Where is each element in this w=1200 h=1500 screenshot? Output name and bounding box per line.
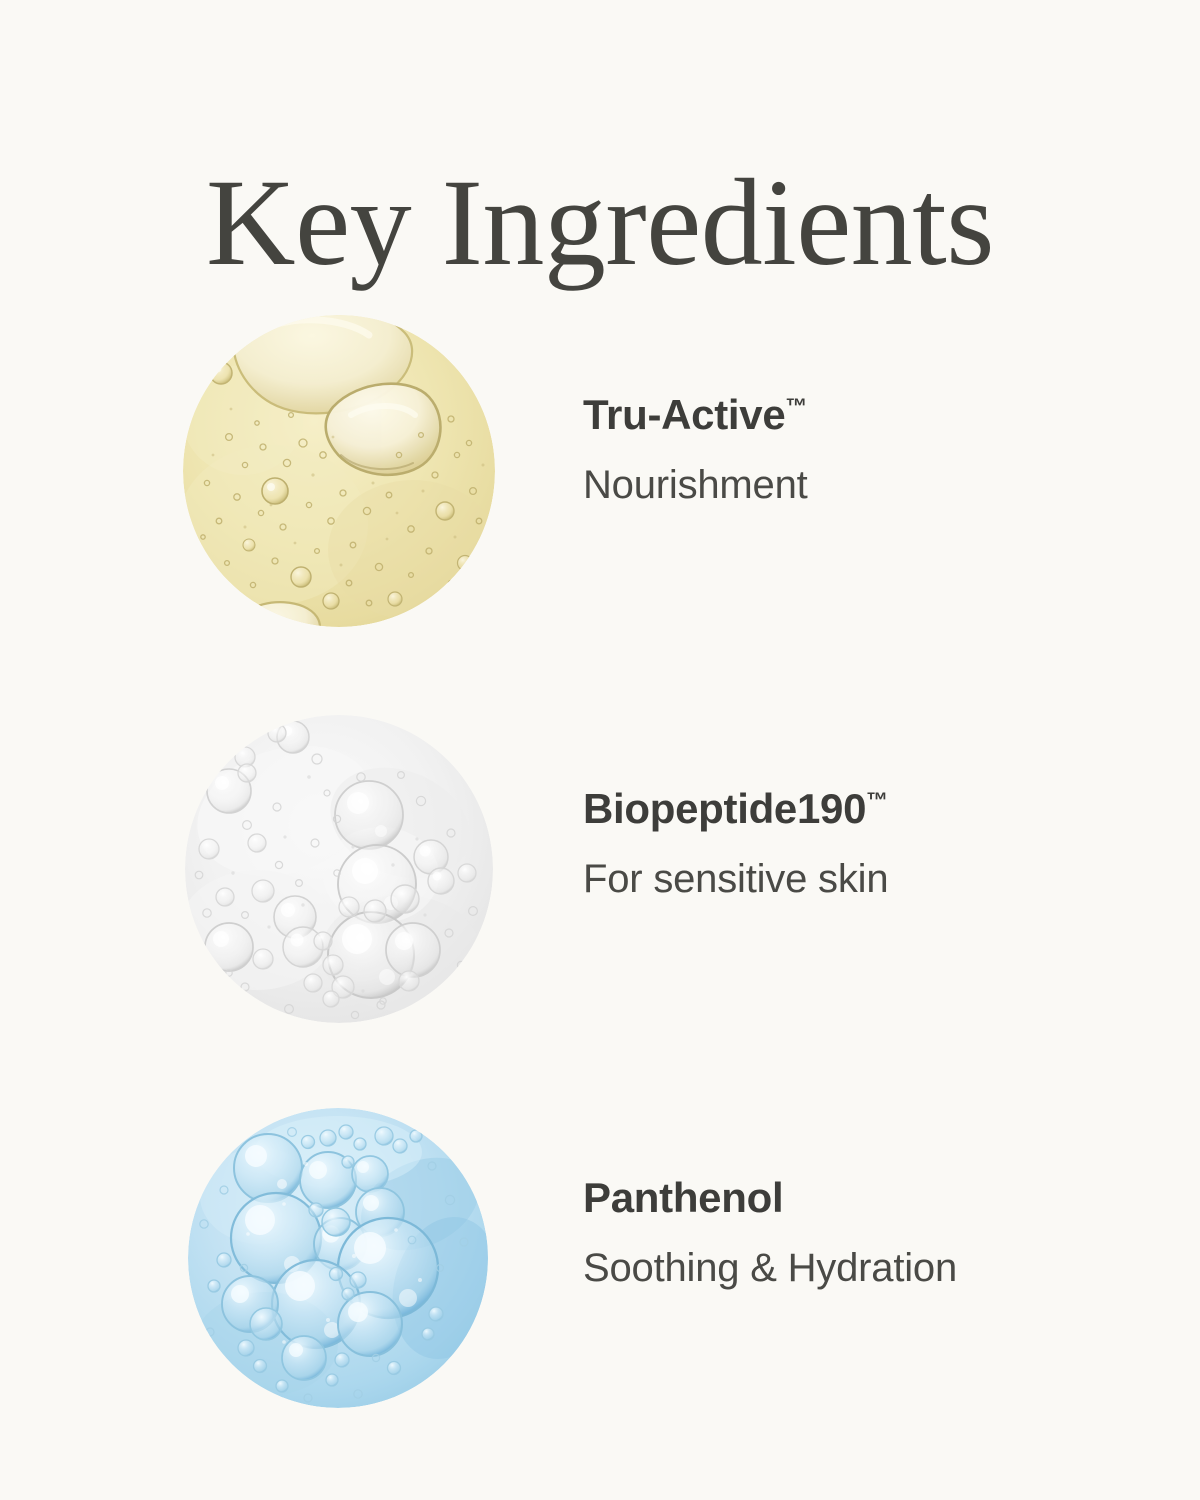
ingredient-text-tru-active: Tru-Active™ Nourishment	[583, 391, 1143, 509]
ingredient-item-biopeptide190: Biopeptide190™ For sensitive skin	[0, 707, 1200, 1027]
ingredient-list: Tru-Active™ Nourishment	[0, 0, 1200, 1500]
ingredient-name: Tru-Active™	[583, 391, 1143, 439]
blue-water-bubbles-texture-icon	[188, 1108, 488, 1408]
ingredient-description: Soothing & Hydration	[583, 1244, 1143, 1292]
ingredient-text-biopeptide190: Biopeptide190™ For sensitive skin	[583, 785, 1143, 903]
trademark-symbol: ™	[866, 787, 888, 812]
ingredient-description: For sensitive skin	[583, 855, 1143, 903]
ingredient-text-panthenol: Panthenol Soothing & Hydration	[583, 1174, 1143, 1292]
clear-gel-texture-icon	[185, 715, 493, 1023]
oil-droplet-texture-icon	[183, 315, 495, 627]
ingredient-name: Biopeptide190™	[583, 785, 1143, 833]
ingredient-item-tru-active: Tru-Active™ Nourishment	[0, 311, 1200, 631]
key-ingredients-page: Key Ingredients	[0, 0, 1200, 1500]
trademark-symbol: ™	[785, 393, 807, 418]
ingredient-item-panthenol: Panthenol Soothing & Hydration	[0, 1092, 1200, 1412]
ingredient-description: Nourishment	[583, 461, 1143, 509]
ingredient-name: Panthenol	[583, 1174, 1143, 1222]
